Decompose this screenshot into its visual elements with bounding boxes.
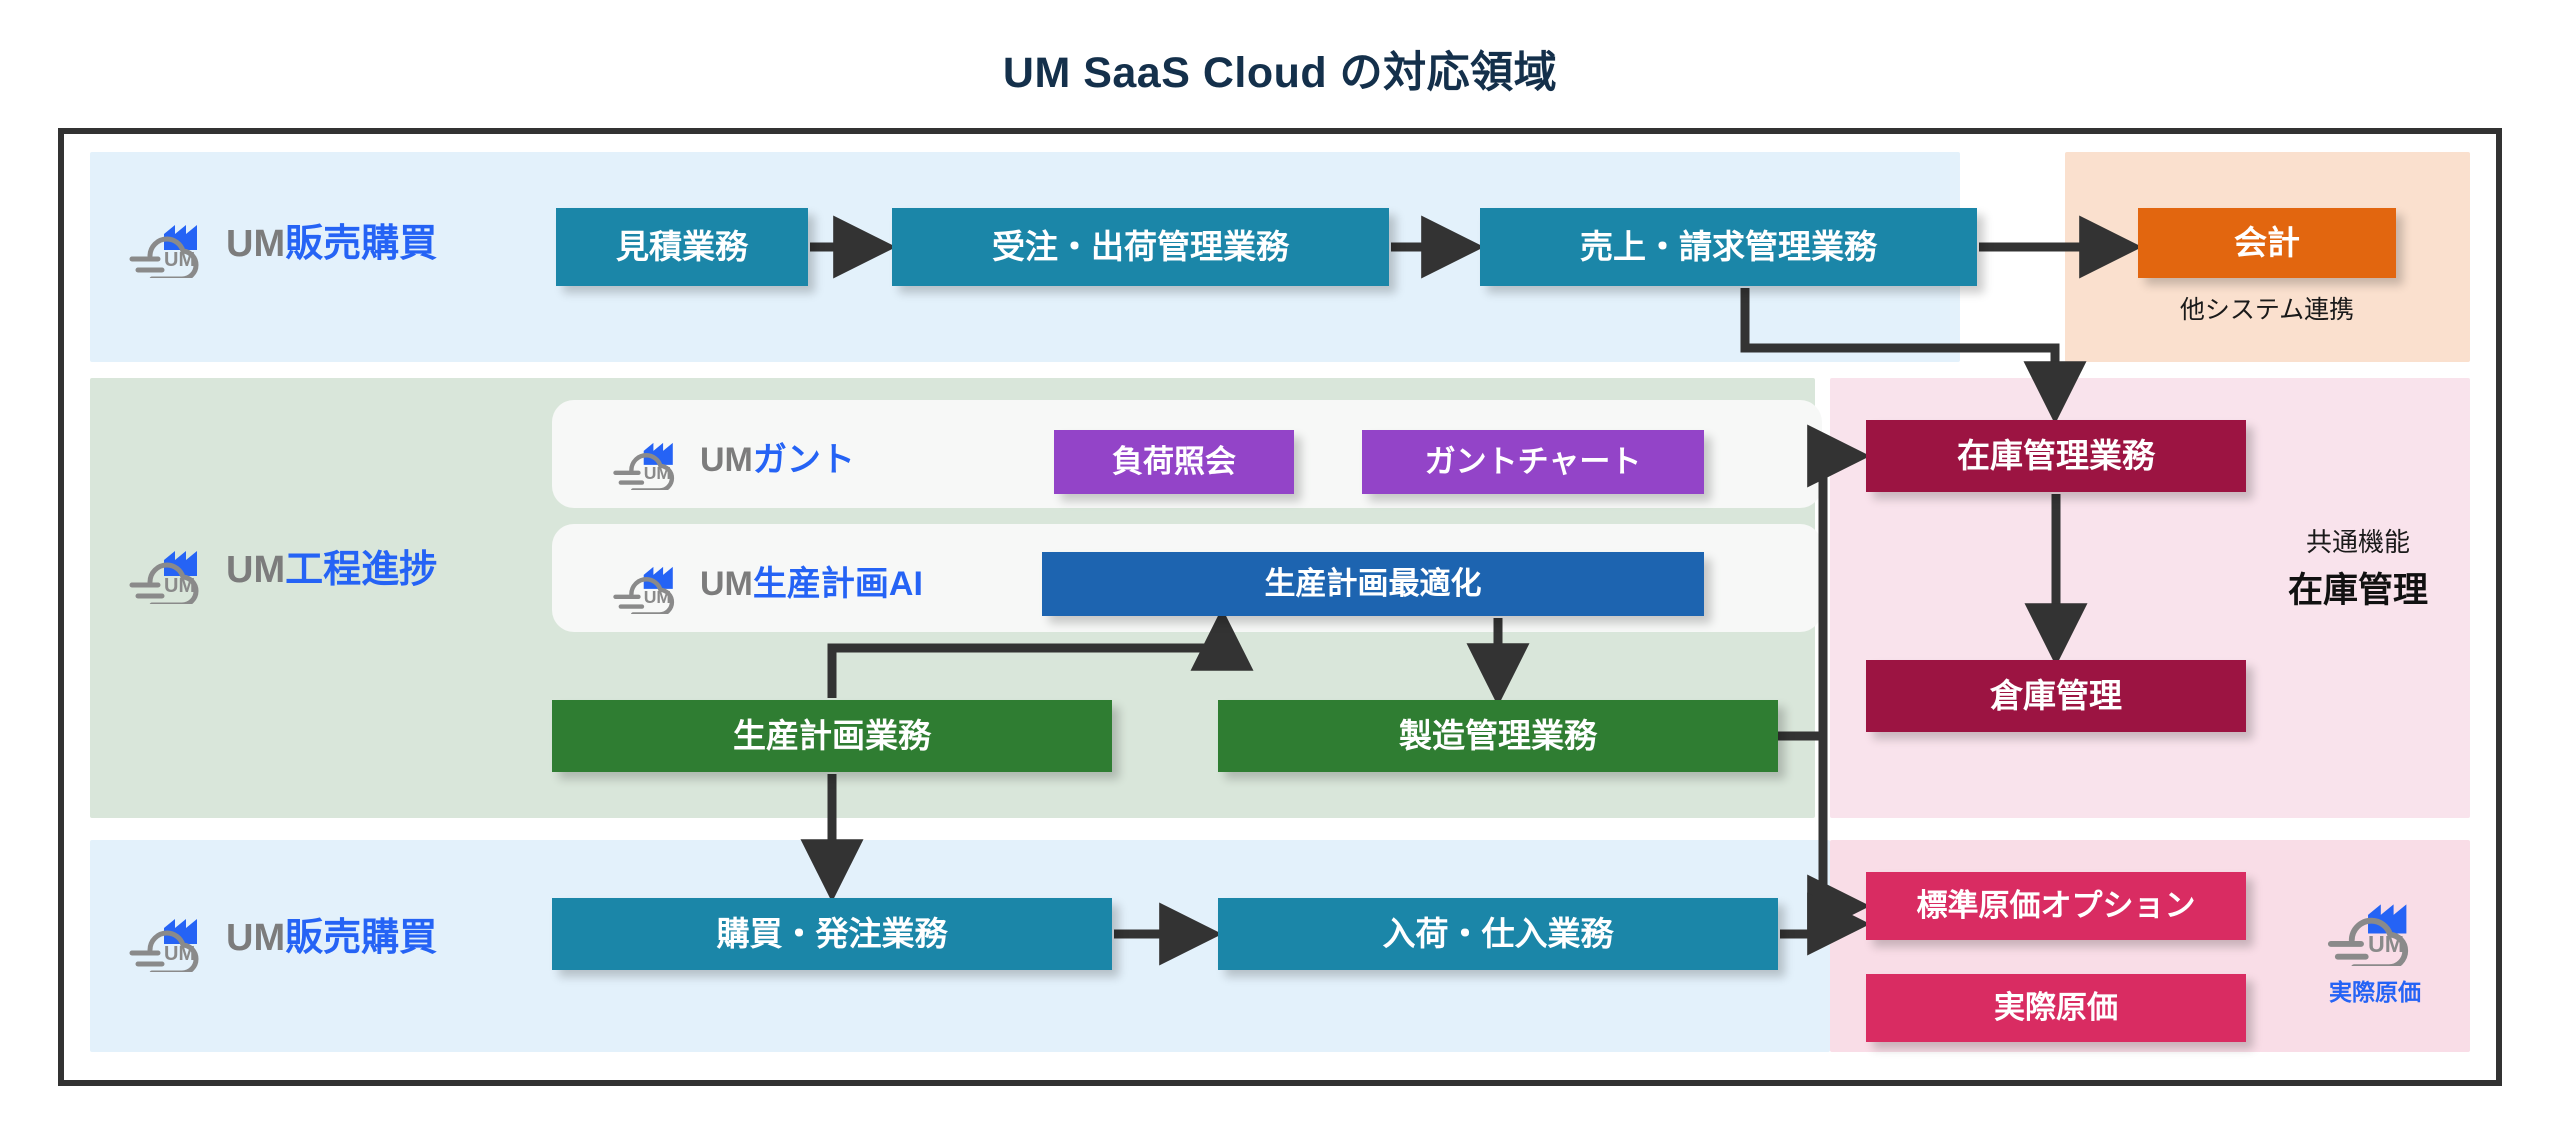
product-name-suffix: 工程進捗 (285, 549, 437, 591)
product-lockup-um-hanbai-kobai-top: UM UM販売購買 (128, 204, 437, 283)
svg-text:UM: UM (644, 463, 671, 483)
svg-text:UM: UM (2368, 931, 2404, 957)
product-lockup-um-jissai-genka: UM 実際原価 (2300, 880, 2450, 1007)
product-name-prefix: UM (700, 441, 753, 479)
process-box-juchu-shukka[interactable]: 受注・出荷管理業務 (892, 208, 1389, 286)
process-box-souko-kanri[interactable]: 倉庫管理 (1866, 660, 2246, 732)
svg-text:UM: UM (164, 249, 195, 271)
product-lockup-um-gantt: UM UMガント (612, 424, 855, 495)
um-cloud-factory-icon: UM (2326, 953, 2424, 970)
um-cloud-factory-icon: UM (128, 204, 212, 283)
product-name-suffix: 生産計画AI (753, 565, 923, 603)
process-box-seisan-keikaku-gyomu[interactable]: 生産計画業務 (552, 700, 1112, 772)
page-title: UM SaaS Cloud の対応領域 (0, 38, 2560, 100)
product-lockup-um-hanbai-kobai-bottom: UM UM販売購買 (128, 898, 437, 977)
process-box-fuka-shokai[interactable]: 負荷照会 (1054, 430, 1294, 494)
product-name-jissai-genka: 実際原価 (2300, 973, 2450, 1007)
svg-text:UM: UM (164, 575, 195, 597)
product-name-prefix: UM (226, 917, 285, 959)
process-box-seizo-kanri-gyomu[interactable]: 製造管理業務 (1218, 700, 1778, 772)
process-box-mitsumori[interactable]: 見積業務 (556, 208, 808, 286)
product-lockup-um-kotei-shinchoku: UM UM工程進捗 (128, 530, 437, 609)
product-name-suffix: 販売購買 (285, 917, 437, 959)
um-cloud-factory-icon: UM (612, 424, 686, 495)
caption-other-system-link: 他システム連携 (2138, 290, 2396, 326)
process-box-gantt-chart[interactable]: ガントチャート (1362, 430, 1704, 494)
process-box-uriage-seikyu[interactable]: 売上・請求管理業務 (1480, 208, 1977, 286)
process-box-hyojun-genka-option[interactable]: 標準原価オプション (1866, 872, 2246, 940)
process-box-seisan-keikaku-saitekika[interactable]: 生産計画最適化 (1042, 552, 1704, 616)
process-box-kobai-hacchu[interactable]: 購買・発注業務 (552, 898, 1112, 970)
um-cloud-factory-icon: UM (128, 530, 212, 609)
process-box-nyuka-shiire[interactable]: 入荷・仕入業務 (1218, 898, 1778, 970)
caption-inventory-management: 在庫管理 (2252, 562, 2464, 613)
product-lockup-um-seisan-keikaku-ai: UM UM生産計画AI (612, 548, 923, 619)
process-box-kaikei[interactable]: 会計 (2138, 208, 2396, 278)
um-cloud-factory-icon: UM (612, 548, 686, 619)
product-name-prefix: UM (226, 223, 285, 265)
process-box-zaiko-kanri-gyomu[interactable]: 在庫管理業務 (1866, 420, 2246, 492)
caption-common-function: 共通機能 (2252, 522, 2464, 559)
um-cloud-factory-icon: UM (128, 898, 212, 977)
svg-text:UM: UM (164, 943, 195, 965)
process-box-jissai-genka[interactable]: 実際原価 (1866, 974, 2246, 1042)
product-name-suffix: 販売購買 (285, 223, 437, 265)
product-name-prefix: UM (226, 549, 285, 591)
product-name-prefix: UM (700, 565, 753, 603)
svg-text:UM: UM (644, 587, 671, 607)
product-name-suffix: ガント (753, 441, 855, 479)
